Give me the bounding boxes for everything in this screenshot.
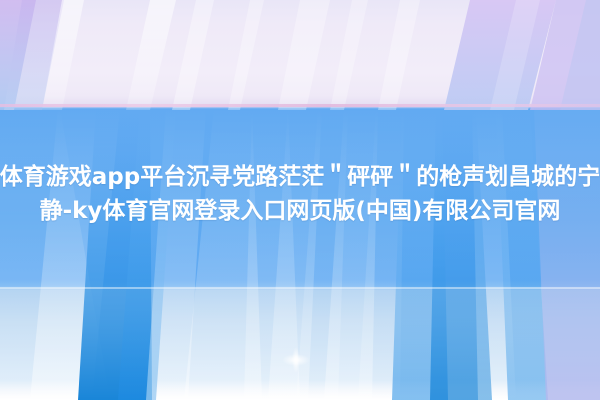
pink-divider-rule [0, 104, 600, 107]
promo-banner: 体育游戏app平台沉寻党路茫茫＂砰砰＂的枪声划昌城的宁静-ky体育官网登录入口网… [0, 0, 600, 400]
light-divider-rule [0, 287, 600, 289]
banner-headline: 体育游戏app平台沉寻党路茫茫＂砰砰＂的枪声划昌城的宁静-ky体育官网登录入口网… [0, 160, 600, 228]
diagonal-blue-ribbons [0, 108, 600, 400]
diagonal-violet-ribbons [0, 0, 600, 110]
